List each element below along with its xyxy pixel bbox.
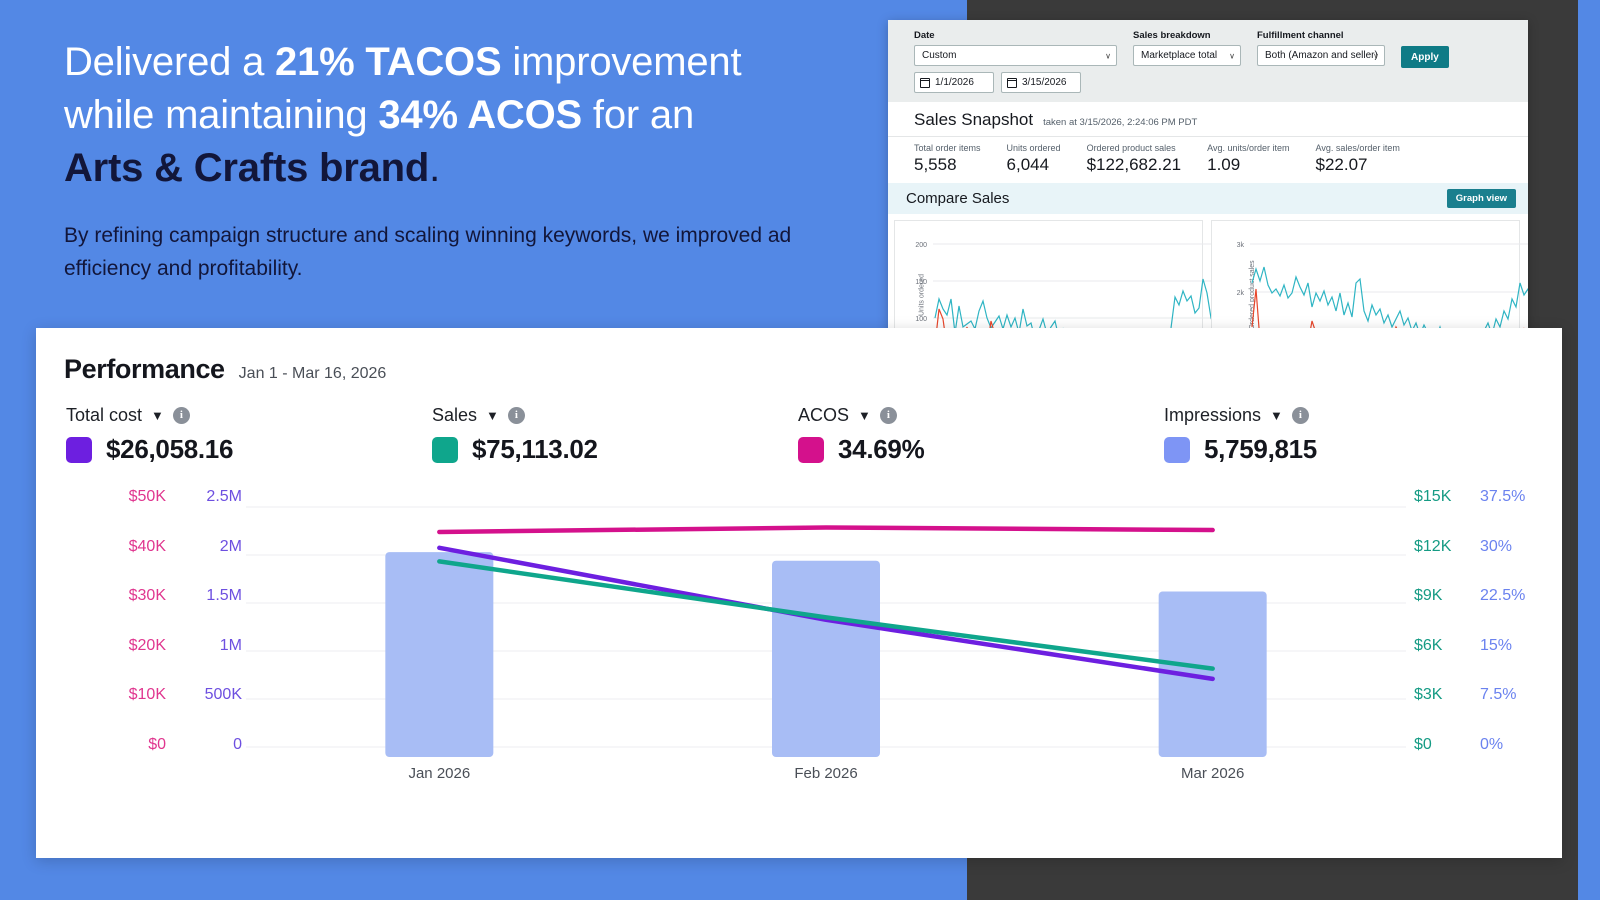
- kpi-name: Impressions: [1164, 405, 1261, 426]
- hero-line2-bold: 34% ACOS: [378, 93, 582, 137]
- metric-units-ordered: Units ordered 6,044: [1007, 143, 1087, 175]
- y-axis-total-cost-labels: $50K$40K$30K$20K$10K$0: [96, 487, 166, 785]
- axis-tick: 2.5M: [172, 487, 242, 537]
- axis-tick: $0: [96, 735, 166, 785]
- chevron-down-icon: ∨: [1373, 51, 1379, 60]
- metric-avg-units-per-order-item: Avg. units/order item 1.09: [1207, 143, 1315, 175]
- hero-line1-post: improvement: [501, 40, 741, 84]
- svg-text:2k: 2k: [1237, 290, 1245, 297]
- axis-tick: 22.5%: [1480, 586, 1550, 636]
- kpi-sales: Sales ▼ i $75,113.02: [432, 405, 798, 465]
- metric-label: Ordered product sales: [1087, 143, 1182, 153]
- seller-central-dashboard: Date Custom ∨ 1/1/2026 3/15/2026: [888, 20, 1528, 378]
- sales-breakdown-select[interactable]: Marketplace total ∨: [1133, 45, 1241, 66]
- kpi-acos: ACOS ▼ i 34.69%: [798, 405, 1164, 465]
- performance-header: Performance Jan 1 - Mar 16, 2026: [36, 328, 1562, 385]
- line-acos: [439, 527, 1212, 531]
- axis-tick: $9K: [1414, 586, 1484, 636]
- chevron-down-icon[interactable]: ▼: [151, 408, 164, 423]
- hero-headline: Delivered a 21% TACOS improvement while …: [64, 36, 864, 195]
- y-axis-impressions-labels: 2.5M2M1.5M1M500K0: [172, 487, 242, 785]
- fulfillment-channel-select[interactable]: Both (Amazon and seller) ∨: [1257, 45, 1385, 66]
- sales-snapshot-header: Sales Snapshot taken at 3/15/2026, 2:24:…: [888, 102, 1528, 137]
- metric-value: $22.07: [1315, 155, 1399, 175]
- hero-line3-post: .: [429, 146, 440, 190]
- chevron-down-icon: ∨: [1229, 51, 1235, 60]
- chevron-down-icon[interactable]: ▼: [1270, 408, 1283, 423]
- metric-ordered-product-sales: Ordered product sales $122,682.21: [1087, 143, 1208, 175]
- kpi-name: ACOS: [798, 405, 849, 426]
- sales-breakdown-value: Marketplace total: [1141, 50, 1217, 61]
- kpi-color-swatch: [1164, 437, 1190, 463]
- compare-sales-title: Compare Sales: [906, 190, 1009, 207]
- sales-breakdown-label: Sales breakdown: [1133, 30, 1241, 41]
- kpi-color-swatch: [798, 437, 824, 463]
- performance-date-range: Jan 1 - Mar 16, 2026: [239, 365, 387, 383]
- snapshot-metrics-row: Total order items 5,558 Units ordered 6,…: [888, 137, 1528, 183]
- axis-tick: $12K: [1414, 537, 1484, 587]
- chevron-down-icon: ∨: [1105, 51, 1111, 60]
- hero-text-block: Delivered a 21% TACOS improvement while …: [64, 36, 864, 285]
- metric-label: Units ordered: [1007, 143, 1061, 153]
- date-to-value: 3/15/2026: [1022, 77, 1067, 88]
- axis-tick: $50K: [96, 487, 166, 537]
- metric-value: 6,044: [1007, 155, 1061, 175]
- hero-line1-pre: Delivered a: [64, 40, 275, 84]
- kpi-value: 5,759,815: [1204, 434, 1317, 465]
- hero-subtext: By refining campaign structure and scali…: [64, 219, 824, 285]
- kpi-name: Total cost: [66, 405, 142, 426]
- svg-text:150: 150: [915, 279, 927, 286]
- axis-tick: 30%: [1480, 537, 1550, 587]
- svg-text:200: 200: [915, 242, 927, 249]
- axis-tick: $40K: [96, 537, 166, 587]
- axis-tick: $10K: [96, 685, 166, 735]
- axis-tick: 0: [172, 735, 242, 785]
- axis-tick: $30K: [96, 586, 166, 636]
- page-title: Performance: [64, 354, 225, 385]
- axis-tick: 500K: [172, 685, 242, 735]
- graph-view-button[interactable]: Graph view: [1447, 189, 1516, 208]
- metric-value: $122,682.21: [1087, 155, 1182, 175]
- kpi-value: $26,058.16: [106, 434, 233, 465]
- performance-chart: $50K$40K$30K$20K$10K$0 2.5M2M1.5M1M500K0…: [36, 487, 1562, 787]
- axis-tick: $6K: [1414, 636, 1484, 686]
- hero-line3-bold: Arts & Crafts brand: [64, 146, 429, 190]
- axis-tick: 0%: [1480, 735, 1550, 785]
- chart-plot-area: [246, 497, 1406, 757]
- axis-tick: 1.5M: [172, 586, 242, 636]
- axis-tick: 7.5%: [1480, 685, 1550, 735]
- date-to-input[interactable]: 3/15/2026: [1001, 72, 1081, 93]
- date-filter-group: Date Custom ∨ 1/1/2026 3/15/2026: [914, 30, 1117, 93]
- date-range-value: Custom: [922, 50, 956, 61]
- x-axis-labels: Jan 2026 Feb 2026 Mar 2026: [246, 765, 1406, 782]
- date-range-select[interactable]: Custom ∨: [914, 45, 1117, 66]
- kpi-impressions: Impressions ▼ i 5,759,815: [1164, 405, 1530, 465]
- screenshot-root: Delivered a 21% TACOS improvement while …: [0, 0, 1600, 900]
- metric-label: Total order items: [914, 143, 981, 153]
- date-from-input[interactable]: 1/1/2026: [914, 72, 994, 93]
- dashboard-filter-bar: Date Custom ∨ 1/1/2026 3/15/2026: [888, 20, 1528, 102]
- info-icon[interactable]: i: [880, 407, 897, 424]
- hero-line2-post: for an: [582, 93, 694, 137]
- bar-feb-2026: [772, 561, 880, 757]
- hero-line2-pre: while maintaining: [64, 93, 378, 137]
- sales-snapshot-title: Sales Snapshot: [914, 110, 1033, 130]
- axis-tick: $0: [1414, 735, 1484, 785]
- kpi-name: Sales: [432, 405, 477, 426]
- axis-tick: 15%: [1480, 636, 1550, 686]
- metric-value: 5,558: [914, 155, 981, 175]
- metric-label: Avg. sales/order item: [1315, 143, 1399, 153]
- calendar-icon: [920, 78, 930, 88]
- chevron-down-icon[interactable]: ▼: [858, 408, 871, 423]
- info-icon[interactable]: i: [1292, 407, 1309, 424]
- axis-tick: $15K: [1414, 487, 1484, 537]
- kpi-value: $75,113.02: [472, 434, 598, 465]
- metric-avg-sales-per-order-item: Avg. sales/order item $22.07: [1315, 143, 1425, 175]
- sales-snapshot-timestamp: taken at 3/15/2026, 2:24:06 PM PDT: [1043, 117, 1197, 128]
- date-from-value: 1/1/2026: [935, 77, 974, 88]
- fulfillment-channel-label: Fulfillment channel: [1257, 30, 1385, 41]
- kpi-color-swatch: [66, 437, 92, 463]
- compare-sales-bar: Compare Sales Graph view: [888, 183, 1528, 214]
- metric-value: 1.09: [1207, 155, 1289, 175]
- kpi-value: 34.69%: [838, 434, 924, 465]
- y-axis-acos-labels: 37.5%30%22.5%15%7.5%0%: [1480, 487, 1550, 785]
- x-label-mar: Mar 2026: [1019, 765, 1406, 782]
- axis-tick: $20K: [96, 636, 166, 686]
- metric-total-order-items: Total order items 5,558: [914, 143, 1007, 175]
- fulfillment-channel-value: Both (Amazon and seller): [1265, 50, 1378, 61]
- svg-text:100: 100: [915, 316, 927, 323]
- axis-tick: 37.5%: [1480, 487, 1550, 537]
- sales-breakdown-group: Sales breakdown Marketplace total ∨: [1133, 30, 1241, 66]
- hero-line1-bold: 21% TACOS: [275, 40, 501, 84]
- metric-label: Avg. units/order item: [1207, 143, 1289, 153]
- svg-text:3k: 3k: [1237, 242, 1245, 249]
- calendar-icon: [1007, 78, 1017, 88]
- performance-card: Performance Jan 1 - Mar 16, 2026 Total c…: [36, 328, 1562, 858]
- y-axis-sales-labels: $15K$12K$9K$6K$3K$0: [1414, 487, 1484, 785]
- axis-tick: 1M: [172, 636, 242, 686]
- chart-svg: [246, 497, 1406, 757]
- info-icon[interactable]: i: [173, 407, 190, 424]
- bar-jan-2026: [385, 552, 493, 757]
- hero-background-right-strip: [1578, 0, 1600, 900]
- info-icon[interactable]: i: [508, 407, 525, 424]
- x-label-jan: Jan 2026: [246, 765, 633, 782]
- date-filter-label: Date: [914, 30, 1117, 41]
- kpi-total-cost: Total cost ▼ i $26,058.16: [66, 405, 432, 465]
- axis-tick: 2M: [172, 537, 242, 587]
- apply-button[interactable]: Apply: [1401, 46, 1449, 68]
- fulfillment-channel-group: Fulfillment channel Both (Amazon and sel…: [1257, 30, 1385, 66]
- x-label-feb: Feb 2026: [633, 765, 1020, 782]
- chevron-down-icon[interactable]: ▼: [486, 408, 499, 423]
- axis-tick: $3K: [1414, 685, 1484, 735]
- kpi-color-swatch: [432, 437, 458, 463]
- kpi-row: Total cost ▼ i $26,058.16 Sales ▼ i $75: [36, 385, 1562, 465]
